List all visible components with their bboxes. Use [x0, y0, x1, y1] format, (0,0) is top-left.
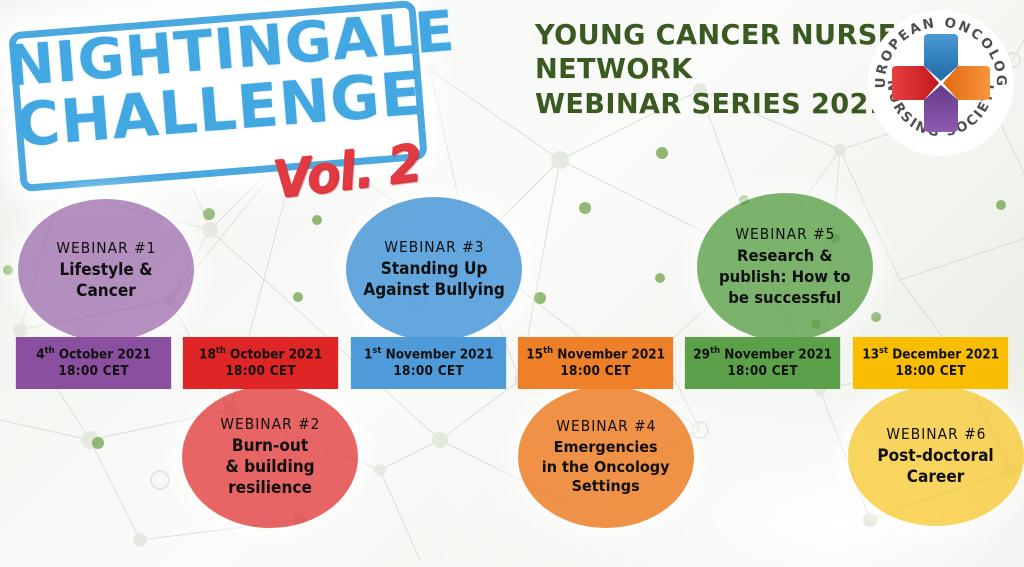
- webinar-6-number: WEBINAR #6: [886, 425, 986, 443]
- webinar-1-title: Lifestyle & Cancer: [24, 260, 188, 302]
- timeline-time-5: 18:00 CET: [728, 363, 799, 380]
- webinar-5-number: WEBINAR #5: [735, 225, 835, 243]
- page-title: YOUNG CANCER NURSES NETWORK WEBINAR SERI…: [535, 18, 855, 121]
- timeline-monthyear-5: November 2021: [725, 347, 833, 362]
- timeline-day-5: 29: [694, 347, 711, 362]
- timeline-segment-3[interactable]: 1st November 2021 18:00 CET: [351, 337, 507, 389]
- webinar-series-poster: NIGHTINGALE CHALLENGE Vol. 2 YOUNG CANCE…: [0, 0, 1024, 567]
- webinar-6-title: Post-doctoralCareer: [870, 446, 1001, 488]
- webinar-bubble-2[interactable]: WEBINAR #2 Burn-out& buildingresilience: [182, 386, 358, 528]
- timeline-day-4: 15: [526, 347, 543, 362]
- webinar-3-title: Standing UpAgainst Bullying: [356, 259, 512, 301]
- timeline-monthyear-6: December 2021: [892, 347, 999, 362]
- timeline-suffix-5: th: [710, 346, 720, 356]
- timeline-suffix-2: th: [216, 346, 226, 356]
- timeline-day-3: 1: [364, 347, 372, 362]
- webinar-bubble-1[interactable]: WEBINAR #1 Lifestyle & Cancer: [18, 199, 194, 341]
- timeline-monthyear-1: October 2021: [59, 347, 151, 362]
- timeline-date-4: 15th November 2021: [526, 346, 665, 363]
- timeline-time-6: 18:00 CET: [895, 363, 966, 380]
- webinar-bubble-5[interactable]: WEBINAR #5 Research &publish: How tobe s…: [697, 193, 873, 341]
- title-line-3: WEBINAR SERIES 2021: [535, 87, 855, 121]
- timeline-segment-5[interactable]: 29th November 2021 18:00 CET: [685, 337, 841, 389]
- webinar-4-title: Emergenciesin the OncologySettings: [535, 438, 678, 497]
- eons-logo: EUROPEAN ONCOLOGY NURSING SOCIETY: [866, 8, 1016, 158]
- webinar-5-title: Research &publish: How tobe successful: [712, 246, 859, 308]
- timeline-suffix-4: th: [543, 346, 553, 356]
- timeline-segment-1[interactable]: 4th October 2021 18:00 CET: [16, 337, 172, 389]
- webinar-2-title: Burn-out& buildingresilience: [218, 436, 322, 499]
- webinar-bubble-6[interactable]: WEBINAR #6 Post-doctoralCareer: [848, 386, 1024, 526]
- timeline-time-4: 18:00 CET: [560, 363, 631, 380]
- webinar-bubble-3[interactable]: WEBINAR #3 Standing UpAgainst Bullying: [346, 197, 522, 341]
- timeline-suffix-1: th: [45, 346, 55, 356]
- timeline-time-2: 18:00 CET: [226, 363, 297, 380]
- webinar-bubble-4[interactable]: WEBINAR #4 Emergenciesin the OncologySet…: [518, 386, 694, 528]
- webinar-2-number: WEBINAR #2: [220, 415, 320, 433]
- webinar-3-number: WEBINAR #3: [384, 238, 484, 256]
- timeline-time-1: 18:00 CET: [58, 363, 129, 380]
- timeline-day-6: 13: [862, 347, 879, 362]
- timeline-time-3: 18:00 CET: [393, 363, 464, 380]
- webinar-1-number: WEBINAR #1: [56, 239, 156, 257]
- timeline-segment-4[interactable]: 15th November 2021 18:00 CET: [518, 337, 674, 389]
- webinar-4-number: WEBINAR #4: [556, 417, 656, 435]
- timeline-suffix-3: st: [372, 346, 381, 356]
- timeline-date-3: 1st November 2021: [364, 346, 493, 363]
- timeline-segment-2[interactable]: 18th October 2021 18:00 CET: [183, 337, 339, 389]
- title-line-1: YOUNG CANCER NURSES: [535, 18, 855, 52]
- timeline-suffix-6: st: [879, 346, 888, 356]
- title-line-2: NETWORK: [535, 52, 855, 86]
- timeline-segment-6[interactable]: 13st December 2021 18:00 CET: [852, 337, 1008, 389]
- timeline-monthyear-3: November 2021: [385, 347, 493, 362]
- timeline-day-1: 4: [36, 347, 44, 362]
- timeline-date-2: 18th October 2021: [199, 346, 322, 363]
- timeline-date-5: 29th November 2021: [694, 346, 833, 363]
- timeline-date-1: 4th October 2021: [36, 346, 151, 363]
- timeline-monthyear-2: October 2021: [230, 347, 322, 362]
- timeline-date-6: 13st December 2021: [862, 346, 999, 363]
- timeline-bar: 4th October 2021 18:00 CET 18th October …: [10, 337, 1014, 389]
- timeline-monthyear-4: November 2021: [557, 347, 665, 362]
- timeline-day-2: 18: [199, 347, 216, 362]
